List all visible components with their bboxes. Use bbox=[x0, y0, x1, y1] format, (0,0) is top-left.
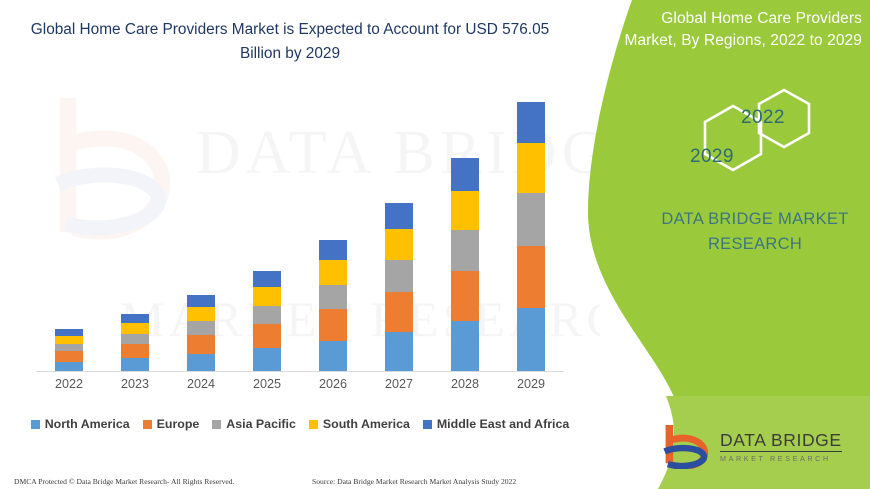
logo-name: DATA BRIDGE bbox=[720, 432, 842, 453]
logo-tagline: MARKET RESEARCH bbox=[720, 455, 842, 462]
brand-name-line-2: RESEARCH bbox=[640, 232, 870, 257]
bar-segment-2023-south-america bbox=[121, 323, 149, 334]
footer-copyright: DMCA Protected © Data Bridge Market Rese… bbox=[14, 477, 234, 486]
bar-segment-2024-middle-east-and-africa bbox=[187, 295, 215, 307]
legend-swatch-icon bbox=[423, 420, 432, 429]
footer-source: Source: Data Bridge Market Research Mark… bbox=[312, 477, 516, 486]
legend-item-south-america[interactable]: South America bbox=[309, 417, 410, 431]
bar-segment-2023-north-america bbox=[121, 358, 149, 371]
bar-segment-2029-middle-east-and-africa bbox=[517, 102, 545, 144]
logo: DATA BRIDGE MARKET RESEARCH bbox=[663, 425, 842, 469]
bar-segment-2027-asia-pacific bbox=[385, 260, 413, 292]
x-axis-label-2026: 2026 bbox=[303, 377, 363, 391]
bar-2022 bbox=[55, 329, 83, 371]
bar-segment-2027-europe bbox=[385, 292, 413, 332]
bar-segment-2028-south-america bbox=[451, 191, 479, 231]
brand-name-line-1: DATA BRIDGE MARKET bbox=[640, 207, 870, 232]
bar-segment-2027-north-america bbox=[385, 332, 413, 371]
bar-segment-2025-north-america bbox=[253, 348, 281, 371]
legend-label: Europe bbox=[157, 417, 200, 431]
bar-2029 bbox=[517, 102, 545, 371]
bar-segment-2026-south-america bbox=[319, 260, 347, 284]
bar-segment-2028-north-america bbox=[451, 321, 479, 371]
x-axis-label-2027: 2027 bbox=[369, 377, 429, 391]
bar-segment-2026-middle-east-and-africa bbox=[319, 240, 347, 260]
bar-segment-2022-asia-pacific bbox=[55, 344, 83, 351]
x-axis-line bbox=[36, 371, 564, 372]
bar-segment-2023-middle-east-and-africa bbox=[121, 314, 149, 323]
legend-swatch-icon bbox=[143, 420, 152, 429]
legend-item-europe[interactable]: Europe bbox=[143, 417, 200, 431]
bar-segment-2026-europe bbox=[319, 309, 347, 341]
hexagon-2029-label: 2029 bbox=[690, 146, 734, 168]
bar-segment-2025-south-america bbox=[253, 287, 281, 306]
bar-segment-2024-europe bbox=[187, 335, 215, 354]
legend-item-north-america[interactable]: North America bbox=[31, 417, 130, 431]
bar-segment-2029-north-america bbox=[517, 308, 545, 371]
bar-2024 bbox=[187, 295, 215, 371]
x-axis-label-2023: 2023 bbox=[105, 377, 165, 391]
stacked-bars bbox=[36, 108, 564, 371]
bar-segment-2024-south-america bbox=[187, 307, 215, 322]
chart-plot-area: 20222023202420252026202720282029 bbox=[0, 0, 600, 420]
bar-segment-2028-middle-east-and-africa bbox=[451, 158, 479, 191]
legend-label: South America bbox=[323, 417, 410, 431]
bar-2028 bbox=[451, 158, 479, 371]
bar-segment-2023-asia-pacific bbox=[121, 334, 149, 344]
bar-2025 bbox=[253, 271, 281, 371]
x-axis-label-2028: 2028 bbox=[435, 377, 495, 391]
bar-segment-2028-asia-pacific bbox=[451, 230, 479, 271]
bar-segment-2026-north-america bbox=[319, 341, 347, 371]
bar-2026 bbox=[319, 240, 347, 371]
legend-label: North America bbox=[45, 417, 130, 431]
bar-segment-2023-europe bbox=[121, 344, 149, 359]
bar-segment-2022-north-america bbox=[55, 362, 83, 371]
bar-segment-2029-asia-pacific bbox=[517, 193, 545, 246]
bar-segment-2022-europe bbox=[55, 351, 83, 362]
bar-segment-2025-europe bbox=[253, 324, 281, 348]
legend-item-asia-pacific[interactable]: Asia Pacific bbox=[212, 417, 296, 431]
data-bridge-b-icon bbox=[663, 425, 711, 469]
brand-name: DATA BRIDGE MARKET RESEARCH bbox=[640, 207, 870, 257]
x-axis-label-2022: 2022 bbox=[39, 377, 99, 391]
chart-legend: North AmericaEuropeAsia PacificSouth Ame… bbox=[0, 417, 600, 431]
bar-segment-2025-asia-pacific bbox=[253, 306, 281, 324]
bar-segment-2028-europe bbox=[451, 271, 479, 321]
legend-swatch-icon bbox=[212, 420, 221, 429]
bar-segment-2026-asia-pacific bbox=[319, 285, 347, 309]
legend-swatch-icon bbox=[309, 420, 318, 429]
panel-heading: Global Home Care Providers Market, By Re… bbox=[617, 8, 862, 53]
bar-2023 bbox=[121, 314, 149, 371]
x-axis-label-2024: 2024 bbox=[171, 377, 231, 391]
bar-segment-2025-middle-east-and-africa bbox=[253, 271, 281, 286]
legend-item-middle-east-and-africa[interactable]: Middle East and Africa bbox=[423, 417, 569, 431]
x-axis-label-2025: 2025 bbox=[237, 377, 297, 391]
infographic-root: DATA BRIDGE MARKET RESEARCH Global Home … bbox=[0, 0, 870, 489]
bar-2027 bbox=[385, 203, 413, 371]
hexagon-2022-label: 2022 bbox=[741, 107, 785, 129]
legend-label: Asia Pacific bbox=[226, 417, 296, 431]
x-axis-label-2029: 2029 bbox=[501, 377, 561, 391]
logo-text: DATA BRIDGE MARKET RESEARCH bbox=[720, 432, 842, 462]
legend-swatch-icon bbox=[31, 420, 40, 429]
bar-segment-2027-middle-east-and-africa bbox=[385, 203, 413, 228]
bar-segment-2029-south-america bbox=[517, 143, 545, 193]
hexagon-pair bbox=[688, 88, 838, 198]
bar-segment-2027-south-america bbox=[385, 229, 413, 261]
bar-segment-2022-south-america bbox=[55, 336, 83, 344]
bar-segment-2029-europe bbox=[517, 246, 545, 308]
bar-segment-2024-north-america bbox=[187, 354, 215, 371]
bar-segment-2024-asia-pacific bbox=[187, 321, 215, 335]
legend-label: Middle East and Africa bbox=[437, 417, 569, 431]
